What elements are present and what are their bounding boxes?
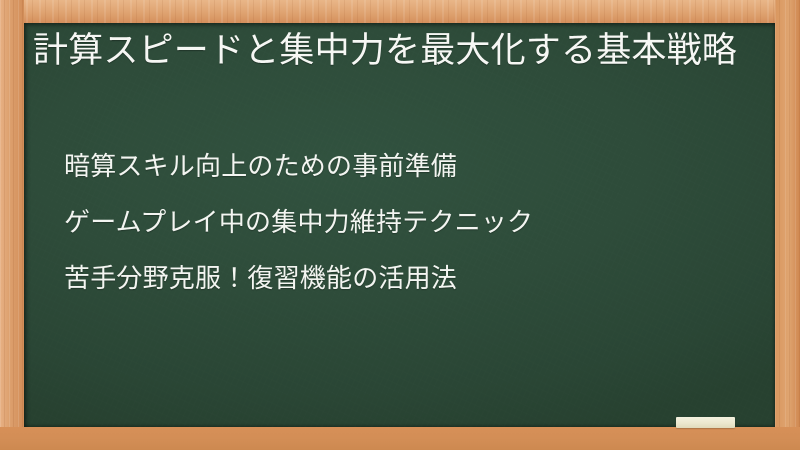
list-item: ゲームプレイ中の集中力維持テクニック xyxy=(64,209,533,235)
frame-left-rail xyxy=(0,0,24,450)
frame-bottom-ledge xyxy=(0,427,800,450)
bullet-list: 暗算スキル向上のための事前準備 ゲームプレイ中の集中力維持テクニック 苦手分野克… xyxy=(64,153,533,291)
slide-content: 計算スピードと集中力を最大化する基本戦略 暗算スキル向上のための事前準備 ゲーム… xyxy=(24,23,775,427)
frame-right-rail xyxy=(775,0,800,450)
chalkboard-slide: 計算スピードと集中力を最大化する基本戦略 暗算スキル向上のための事前準備 ゲーム… xyxy=(0,0,800,450)
slide-title: 計算スピードと集中力を最大化する基本戦略 xyxy=(33,28,753,75)
chalk-stick-icon xyxy=(676,417,735,428)
frame-top-rail xyxy=(0,0,800,23)
list-item: 苦手分野克服！復習機能の活用法 xyxy=(64,265,533,291)
chalkboard-surface: 計算スピードと集中力を最大化する基本戦略 暗算スキル向上のための事前準備 ゲーム… xyxy=(24,23,775,427)
list-item: 暗算スキル向上のための事前準備 xyxy=(64,153,533,179)
